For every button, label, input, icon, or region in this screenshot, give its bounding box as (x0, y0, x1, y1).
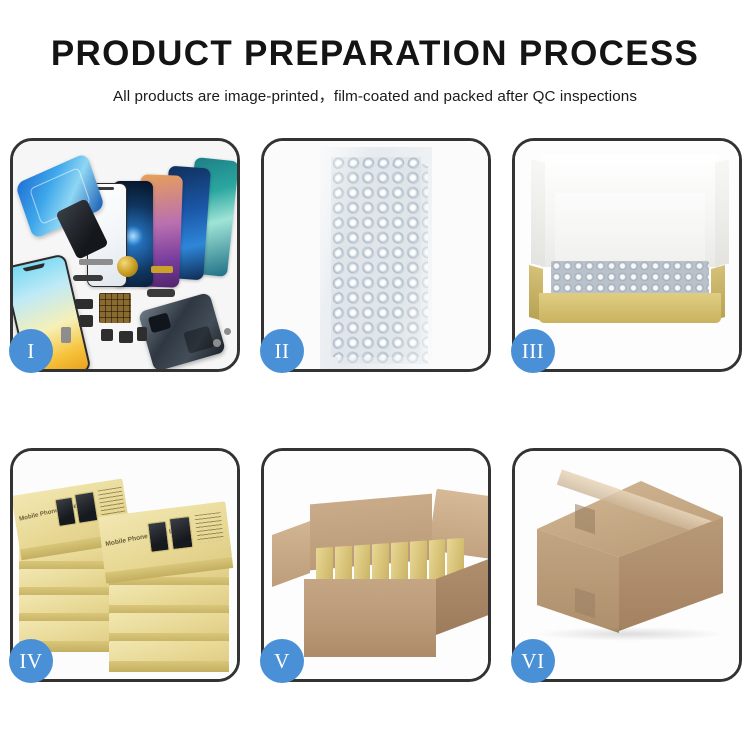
step-badge-3: III (511, 329, 555, 373)
process-step-panel-2[interactable]: II (261, 138, 491, 372)
antenna-strip-part (79, 259, 113, 265)
carton-flap-left (272, 521, 310, 587)
pouch-sheen (320, 147, 432, 369)
gold-connector-part (151, 266, 173, 273)
process-step-grid: I II III (10, 138, 742, 682)
carton-drop-shadow (535, 627, 725, 641)
box-spec-lines-rear (98, 487, 126, 516)
carton-front-panel (304, 579, 436, 657)
flex-cable-part (73, 275, 103, 281)
process-step-panel-5[interactable]: V (261, 448, 491, 682)
bubble-wrap-pouch (320, 147, 432, 369)
stacked-box-l4 (19, 621, 123, 641)
page-header: PRODUCT PREPARATION PROCESS All products… (0, 0, 750, 128)
box-spec-lines-front (195, 512, 224, 543)
box-tray-front-wall (539, 293, 721, 323)
box-art-screen-front-b (169, 516, 194, 550)
step-badge-2: II (260, 329, 304, 373)
small-component-b (79, 315, 93, 327)
sim-tray-part (61, 327, 71, 343)
step-badge-1: I (9, 329, 53, 373)
stacked-box-l3 (19, 595, 123, 613)
step-badge-4: IV (9, 639, 53, 683)
foam-insert (555, 193, 705, 265)
chip-array-part (99, 293, 131, 323)
step-badge-5: V (260, 639, 304, 683)
stacked-box-r3 (109, 613, 229, 633)
process-step-panel-1[interactable]: I (10, 138, 240, 372)
page-subtitle: All products are image-printed，film-coat… (0, 73, 750, 106)
small-component-c (101, 329, 113, 341)
stacked-box-r2 (109, 585, 229, 605)
box-art-screen-front-a (147, 521, 170, 553)
stacked-box-r4 (109, 641, 229, 661)
step-badge-6: VI (511, 639, 555, 683)
screw-part-b (224, 328, 231, 335)
process-step-panel-3[interactable]: III (512, 138, 742, 372)
small-component-d (119, 331, 133, 343)
small-component-a (75, 299, 93, 309)
process-step-panel-4[interactable]: Mobile Phone Spare Parts Mobile Phone Sp… (10, 448, 240, 682)
screw-part-a (213, 339, 221, 347)
phone-back-housing (138, 292, 226, 369)
speaker-module-part (117, 256, 138, 277)
small-component-e (137, 327, 147, 341)
button-flex-part (147, 289, 175, 297)
process-step-panel-6[interactable]: VI (512, 448, 742, 682)
page-title: PRODUCT PREPARATION PROCESS (0, 0, 750, 73)
bubble-wrapped-contents (551, 261, 709, 295)
